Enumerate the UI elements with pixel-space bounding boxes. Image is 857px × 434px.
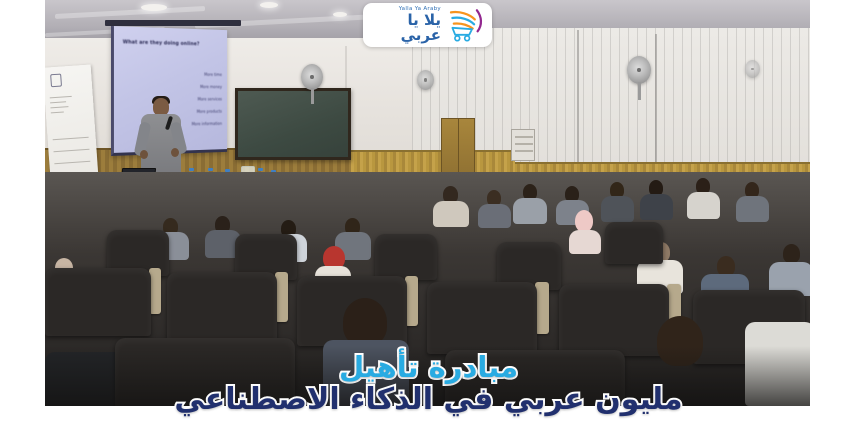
shopping-cart-icon — [444, 8, 486, 42]
flipchart-line — [51, 111, 64, 113]
slide-heading: What are they doing online? — [123, 39, 222, 47]
audience-torso — [687, 192, 720, 219]
title-line-1: مبادرة تأهيل — [0, 352, 857, 383]
title-overlay: مبادرة تأهيل مليون عربي في الذكاء الاصطن… — [0, 352, 857, 417]
audience-torso — [601, 196, 634, 222]
auditorium-seat — [427, 282, 537, 354]
wall-fan — [745, 60, 760, 78]
electrical-panel-bar — [515, 143, 533, 145]
wall-seam — [655, 34, 657, 170]
speaker-hand — [140, 150, 148, 159]
electrical-panel-bar — [515, 150, 533, 152]
audience-torso — [736, 196, 769, 222]
fan-arm — [638, 82, 641, 100]
flipchart-line — [53, 137, 89, 141]
flipchart-line — [50, 106, 68, 108]
speaker-hand — [171, 148, 179, 157]
ceiling-light — [333, 12, 347, 17]
slide-bullet: More money — [159, 84, 222, 89]
logo-arabic-text: يلا يا عربي — [369, 13, 441, 43]
ceiling-light — [141, 4, 167, 11]
slide-bullet: More time — [159, 72, 222, 77]
wall-fan — [301, 64, 323, 90]
auditorium-seat — [45, 268, 151, 336]
electrical-panel-bar — [515, 136, 533, 138]
flipchart-line — [54, 161, 90, 165]
audience-torso — [478, 204, 511, 228]
bottle-cap — [189, 168, 194, 171]
audience-head — [783, 244, 800, 263]
audience-head — [717, 256, 735, 276]
title-line-2: مليون عربي في الذكاء الاصطناعي — [0, 384, 857, 416]
wall-fan — [627, 56, 651, 84]
audience-hijab — [575, 210, 593, 232]
chalkboard — [235, 88, 351, 160]
logo-badge: Yalla Ya Araby يلا يا عربي — [363, 3, 492, 47]
fan-hub — [310, 75, 314, 79]
audience-torso — [433, 201, 469, 227]
electrical-panel — [511, 129, 535, 161]
bottle-cap — [208, 168, 213, 171]
seat-armrest — [535, 282, 549, 334]
ceiling-light — [260, 2, 278, 8]
wall-fan — [417, 70, 434, 90]
fan-hub — [424, 78, 427, 81]
screen-rail — [105, 20, 241, 26]
flipchart-logo — [50, 74, 62, 88]
wall-seam — [577, 30, 579, 170]
fan-arm — [311, 88, 314, 104]
flipchart-line — [54, 149, 90, 153]
flipchart-line — [50, 101, 66, 103]
audience-head — [343, 298, 387, 346]
audience-torso — [569, 230, 601, 254]
screenshot-root: What are they doing online? More time Mo… — [0, 0, 857, 434]
auditorium-seat — [605, 222, 663, 264]
auditorium-seat — [167, 272, 277, 342]
seminar-photograph: What are they doing online? More time Mo… — [45, 0, 810, 406]
bottle-cap — [258, 168, 263, 171]
audience-torso — [640, 194, 673, 220]
flipchart-line — [50, 96, 72, 99]
logo-text-group: Yalla Ya Araby يلا يا عربي — [369, 7, 441, 44]
audience-torso — [513, 198, 547, 224]
fan-hub — [637, 68, 641, 72]
auditorium-seat — [375, 234, 437, 280]
